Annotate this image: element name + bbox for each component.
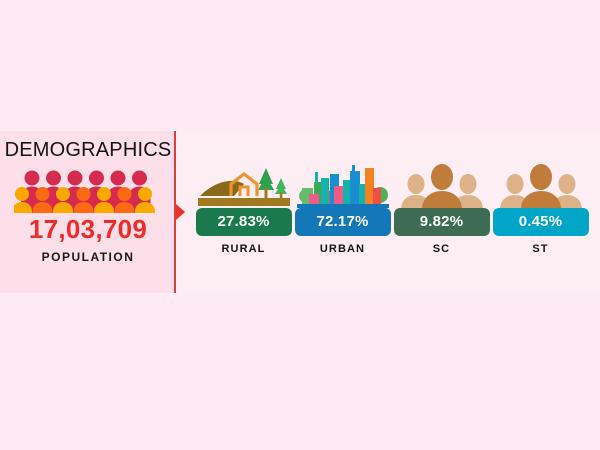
stat-cell-sc: 9.82% SC — [394, 162, 490, 255]
crowd-people-icon — [14, 167, 162, 213]
page-title: DEMOGRAPHICS — [5, 140, 172, 160]
demographics-stats-panel: 27.83% RURAL — [176, 131, 600, 293]
stat-value-urban: 72.17% — [295, 208, 391, 236]
stat-value-rural: 27.83% — [196, 208, 292, 236]
stat-label-sc: SC — [433, 244, 450, 255]
stat-value-st: 0.45% — [493, 208, 589, 236]
stat-value-sc: 9.82% — [394, 208, 490, 236]
urban-skyline-icon — [295, 162, 391, 210]
rural-landscape-icon — [196, 162, 292, 210]
stat-cell-rural: 27.83% RURAL — [196, 162, 292, 255]
people-group-icon-sc — [394, 162, 490, 210]
arrow-right-icon — [176, 204, 185, 220]
demographics-summary-panel: DEMOGRAPHICS — [0, 131, 176, 293]
stat-label-st: ST — [532, 244, 548, 255]
people-group-icon-st — [493, 162, 589, 210]
stat-cell-urban: 72.17% URBAN — [295, 162, 391, 255]
stat-cell-st: 0.45% ST — [493, 162, 589, 255]
demographics-infographic: DEMOGRAPHICS — [0, 131, 600, 293]
stat-label-rural: RURAL — [222, 244, 266, 255]
stat-label-urban: URBAN — [320, 244, 365, 255]
population-count: 17,03,709 — [29, 216, 147, 242]
population-label: POPULATION — [42, 251, 135, 263]
